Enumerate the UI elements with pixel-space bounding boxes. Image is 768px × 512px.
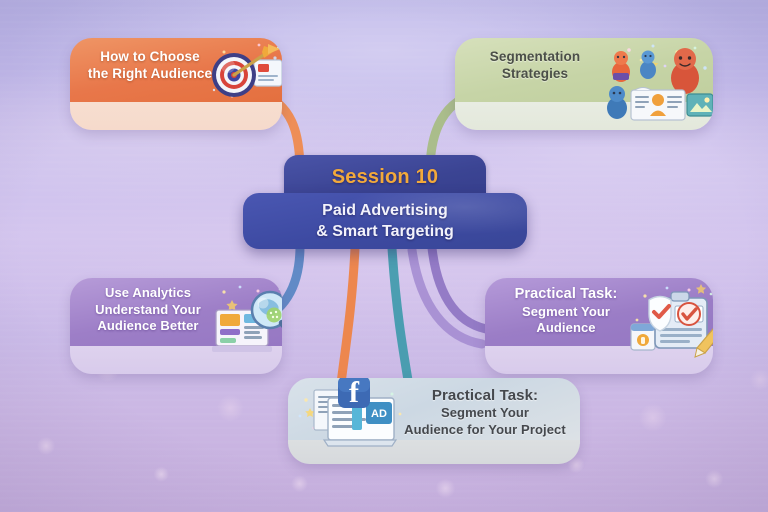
node-label-line1: Use Analytics bbox=[78, 285, 218, 302]
node-label-line1: How to Choose bbox=[80, 48, 220, 65]
node-label-line1: Segmentation bbox=[465, 48, 605, 65]
link-bottom-center-orange bbox=[340, 248, 355, 392]
session-label: Session 10 bbox=[332, 166, 439, 189]
node-center-session[interactable]: Session 10 Paid Advertising & Smart Targ… bbox=[243, 155, 527, 249]
node-label-line2: the Right Audience bbox=[80, 65, 220, 82]
node-label-line2: Strategies bbox=[465, 65, 605, 82]
link-bottom-center-teal bbox=[392, 248, 410, 392]
node-foot bbox=[455, 102, 713, 130]
node-label-line2: Segment Your bbox=[493, 304, 639, 321]
node-foot bbox=[70, 346, 282, 374]
node-how-to-choose[interactable]: How to Choose the Right Audience bbox=[70, 38, 282, 130]
center-session-body: Paid Advertising & Smart Targeting bbox=[243, 193, 527, 249]
center-title-line2: & Smart Targeting bbox=[316, 221, 454, 242]
node-label-line3: Audience Better bbox=[78, 318, 218, 335]
node-practical-task-segment[interactable]: Practical Task: Segment Your Audience bbox=[485, 278, 713, 374]
node-label: How to Choose the Right Audience bbox=[70, 38, 282, 83]
node-practical-task-project[interactable]: Practical Task: Segment Your Audience fo… bbox=[288, 378, 580, 464]
node-label-line3: Audience for Your Project bbox=[398, 422, 572, 439]
node-foot bbox=[485, 346, 713, 374]
node-label: Practical Task: Segment Your Audience bbox=[485, 278, 713, 337]
center-title-line1: Paid Advertising bbox=[322, 200, 448, 221]
node-label-line2: Understand Your bbox=[78, 302, 218, 319]
node-label-line1: Practical Task: bbox=[398, 386, 572, 405]
node-label: Practical Task: Segment Your Audience fo… bbox=[288, 378, 580, 438]
node-segmentation-strategies[interactable]: Segmentation Strategies bbox=[455, 38, 713, 130]
node-label-line2: Segment Your bbox=[398, 405, 572, 422]
node-foot bbox=[288, 440, 580, 464]
node-use-analytics[interactable]: Use Analytics Understand Your Audience B… bbox=[70, 278, 282, 374]
node-foot bbox=[70, 102, 282, 130]
node-label-line1: Practical Task: bbox=[493, 285, 639, 304]
node-label: Segmentation Strategies bbox=[455, 38, 713, 83]
node-label-line3: Audience bbox=[493, 320, 639, 337]
mindmap-canvas: How to Choose the Right Audience bbox=[0, 0, 768, 512]
node-label: Use Analytics Understand Your Audience B… bbox=[70, 278, 282, 335]
